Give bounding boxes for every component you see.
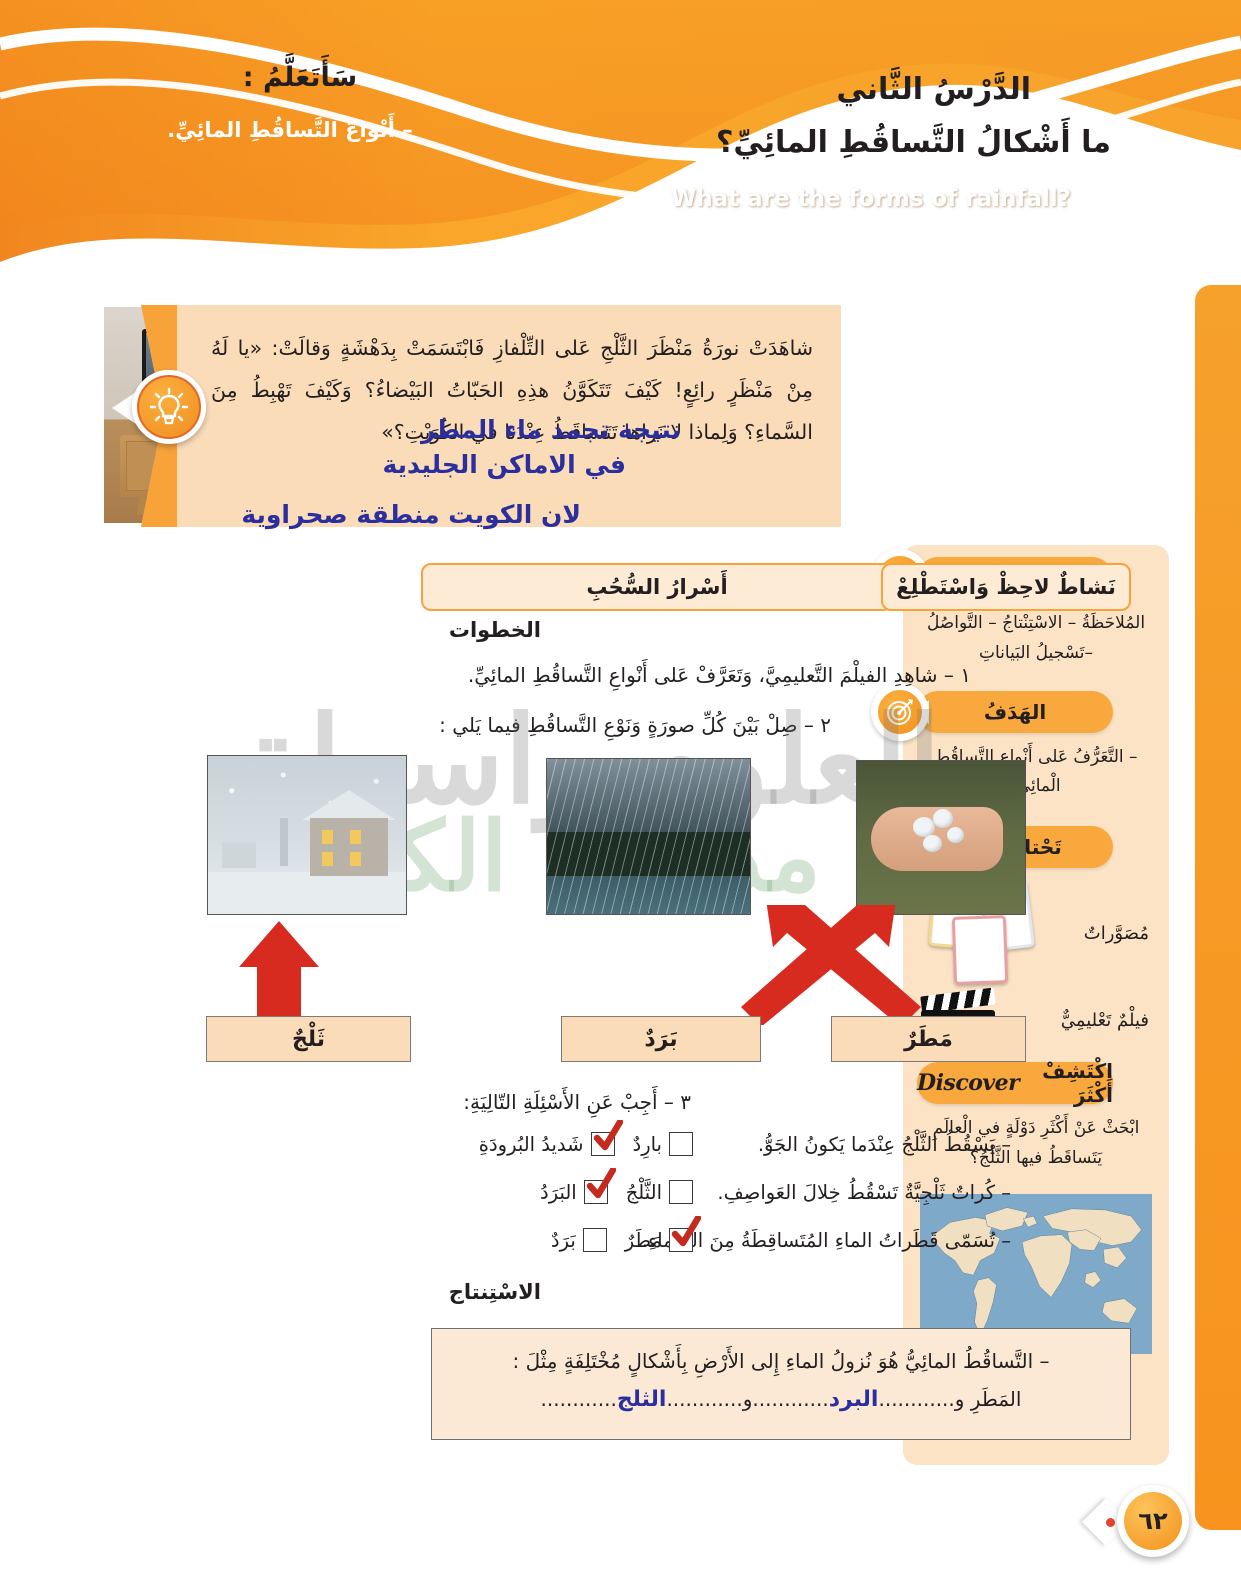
lesson-label: الدَّرْسُ الثَّاني (836, 72, 1031, 107)
rain-over-lake-photo (546, 758, 751, 915)
conclusion-line-1: – التَّساقُطُ المائِيُّ هُوَ نُزولُ الما… (458, 1345, 1104, 1377)
handwriting-annotation-2: في الاماكن الجليدية (382, 450, 626, 479)
question-1-option-1[interactable]: بارِدٌ (633, 1132, 693, 1156)
lightbulb-icon (132, 370, 206, 444)
sidebar-skills-line1: المُلاحَظَةُ – الاسْتِنْتاجُ – التَّواصُ… (919, 609, 1153, 639)
question-2-text: – كُراتٌ ثَلْجِيَّةٌ تَسْقُطُ خِلالَ الع… (711, 1181, 1011, 1204)
question-row-1: – يَسْقُطُ الثَّلْجُ عِنْدَما يَكونُ الج… (479, 1132, 1011, 1156)
checkbox-q2-o2[interactable] (584, 1180, 608, 1204)
lesson-question-english: What are the forms of rainfall? (671, 186, 1071, 212)
checkbox-q1-o2-label: شَديدُ البُرودَةِ (479, 1133, 584, 1156)
small-house (222, 842, 256, 868)
check-mark-icon (586, 1168, 616, 1202)
checkbox-q2-o1[interactable] (669, 1180, 693, 1204)
sidebar-discover-label: اكْتَشِفْ أَكْثَرَ (1029, 1059, 1113, 1107)
conclusion-prefix: المَطَرِ و (955, 1387, 1022, 1411)
question-3-option-1[interactable]: مَطَرٌ (625, 1228, 693, 1252)
checkbox-q3-o1-label: مَطَرٌ (625, 1229, 662, 1252)
question-2-option-2[interactable]: البَرَدُ (540, 1180, 608, 1204)
rain-streaks-overlay (547, 759, 750, 914)
checkbox-q1-o2[interactable] (591, 1132, 615, 1156)
conclusion-heading: الاسْتِنتاج (449, 1280, 541, 1304)
arrow-snow-to-label (161, 915, 441, 1025)
check-mark-icon (593, 1120, 623, 1154)
hail-stone-1 (913, 817, 935, 837)
discover-wordmark: Discover (917, 1070, 1019, 1096)
right-edge-decoration (1195, 285, 1241, 1530)
checkbox-q2-o2-label: البَرَدُ (540, 1181, 577, 1204)
question-3-text: – تُسَمّى قَطَراتُ الماءِ المُتَساقِطَةُ… (711, 1229, 1011, 1252)
checkbox-q3-o1[interactable] (669, 1228, 693, 1252)
house-body (310, 818, 388, 876)
conclusion-dots-4: ............ (541, 1387, 617, 1411)
question-3-option-2[interactable]: بَرَدٌ (551, 1228, 607, 1252)
conclusion-dots-2: ............ (752, 1387, 828, 1411)
label-box-hail: بَرَدٌ (561, 1016, 761, 1062)
hail-stone-3 (923, 835, 942, 852)
need-film-label: فيلْمٌ تَعْليمِيٌّ (1061, 1010, 1149, 1031)
conclusion-answer-1: البرد (829, 1387, 879, 1412)
sidebar-section-discover-pill: اكْتَشِفْ أَكْثَرَ Discover (917, 1062, 1113, 1104)
conclusion-box: – التَّساقُطُ المائِيُّ هُوَ نُزولُ الما… (431, 1328, 1131, 1440)
activity-step-1: ١ – شاهِدِ الفيلْمَ التَّعليمِيَّ، وَتَع… (468, 663, 971, 687)
conclusion-answer-2: الثلج (617, 1387, 667, 1412)
handwriting-annotation-3: لان الكويت منطقة صحراوية (241, 500, 581, 529)
checkbox-q2-o1-label: الثَّلْجُ (626, 1181, 662, 1204)
question-1-option-2[interactable]: شَديدُ البُرودَةِ (479, 1132, 615, 1156)
question-1-text: – يَسْقُطُ الثَّلْجُ عِنْدَما يَكونُ الج… (711, 1133, 1011, 1156)
sidebar-skills-body: المُلاحَظَةُ – الاسْتِنْتاجُ – التَّواصُ… (919, 609, 1153, 669)
activity-title: أَسْرارُ السُّحُبِ (421, 563, 893, 611)
snow-ground (208, 872, 406, 914)
hail-stone-4 (947, 827, 964, 843)
arrows-crossing-rain-hail (621, 905, 1041, 1025)
handwriting-annotation-1: نتيجة تجمد ماء المطر (421, 415, 681, 444)
house-roof (302, 790, 396, 820)
hail-in-hand-photo (856, 760, 1026, 915)
steps-heading: الخطوات (449, 618, 541, 642)
activity-step-2: ٢ – صِلْ بَيْنَ كُلِّ صورَةٍ وَنَوْعِ ال… (439, 713, 831, 737)
question-row-2: – كُراتٌ ثَلْجِيَّةٌ تَسْقُطُ خِلالَ الع… (540, 1180, 1011, 1204)
will-learn-item: – أَنْواعَ التَّساقُطِ المائِيِّ. (0, 118, 580, 142)
conclusion-line-2: المَطَرِ و............البرد............و… (458, 1387, 1104, 1412)
conclusion-dots-3: ............ (666, 1387, 742, 1411)
checkbox-q3-o2-label: بَرَدٌ (551, 1229, 576, 1252)
questions-heading: ٣ – أَجِبْ عَنِ الأَسْئِلَةِ التّالِيَةِ… (463, 1090, 691, 1114)
label-box-snow: ثَلْجٌ (206, 1016, 411, 1062)
snow-village-photo (207, 755, 407, 915)
checkbox-q1-o1[interactable] (669, 1132, 693, 1156)
will-learn-title: سَأَتَعَلَّمُ : (0, 62, 600, 93)
church-spire (280, 818, 288, 866)
question-row-3: – تُسَمّى قَطَراتُ الماءِ المُتَساقِطَةُ… (551, 1228, 1011, 1252)
page-number: ٦٢ (1124, 1492, 1182, 1550)
activity-tag: نَشاطٌ لاحِظْ وَاسْتَطْلِعْ (881, 563, 1131, 611)
target-badge (871, 683, 929, 741)
sidebar-goal-label: الهَدَفُ (984, 700, 1046, 724)
conclusion-dots-1: ............ (878, 1387, 954, 1411)
sidebar-section-goal-pill: الهَدَفُ (917, 691, 1113, 733)
hail-stone-2 (933, 809, 953, 828)
checkbox-q3-o2[interactable] (583, 1228, 607, 1252)
question-2-option-1[interactable]: الثَّلْجُ (626, 1180, 693, 1204)
page-number-badge: ٦٢ (1117, 1485, 1189, 1557)
lesson-question-arabic: ما أَشْكالُ التَّساقُطِ المائِيِّ؟ (716, 125, 1111, 160)
label-box-rain: مَطَرٌ (831, 1016, 1026, 1062)
activity-header-bar: نَشاطٌ لاحِظْ وَاسْتَطْلِعْ أَسْرارُ الس… (421, 563, 1131, 611)
conclusion-middle: و (743, 1387, 753, 1411)
page-badge-dot (1106, 1518, 1115, 1527)
checkbox-q1-o1-label: بارِدٌ (633, 1133, 662, 1156)
need-pictures-label: مُصَوَّراتٌ (1084, 923, 1149, 944)
target-icon (877, 689, 923, 735)
